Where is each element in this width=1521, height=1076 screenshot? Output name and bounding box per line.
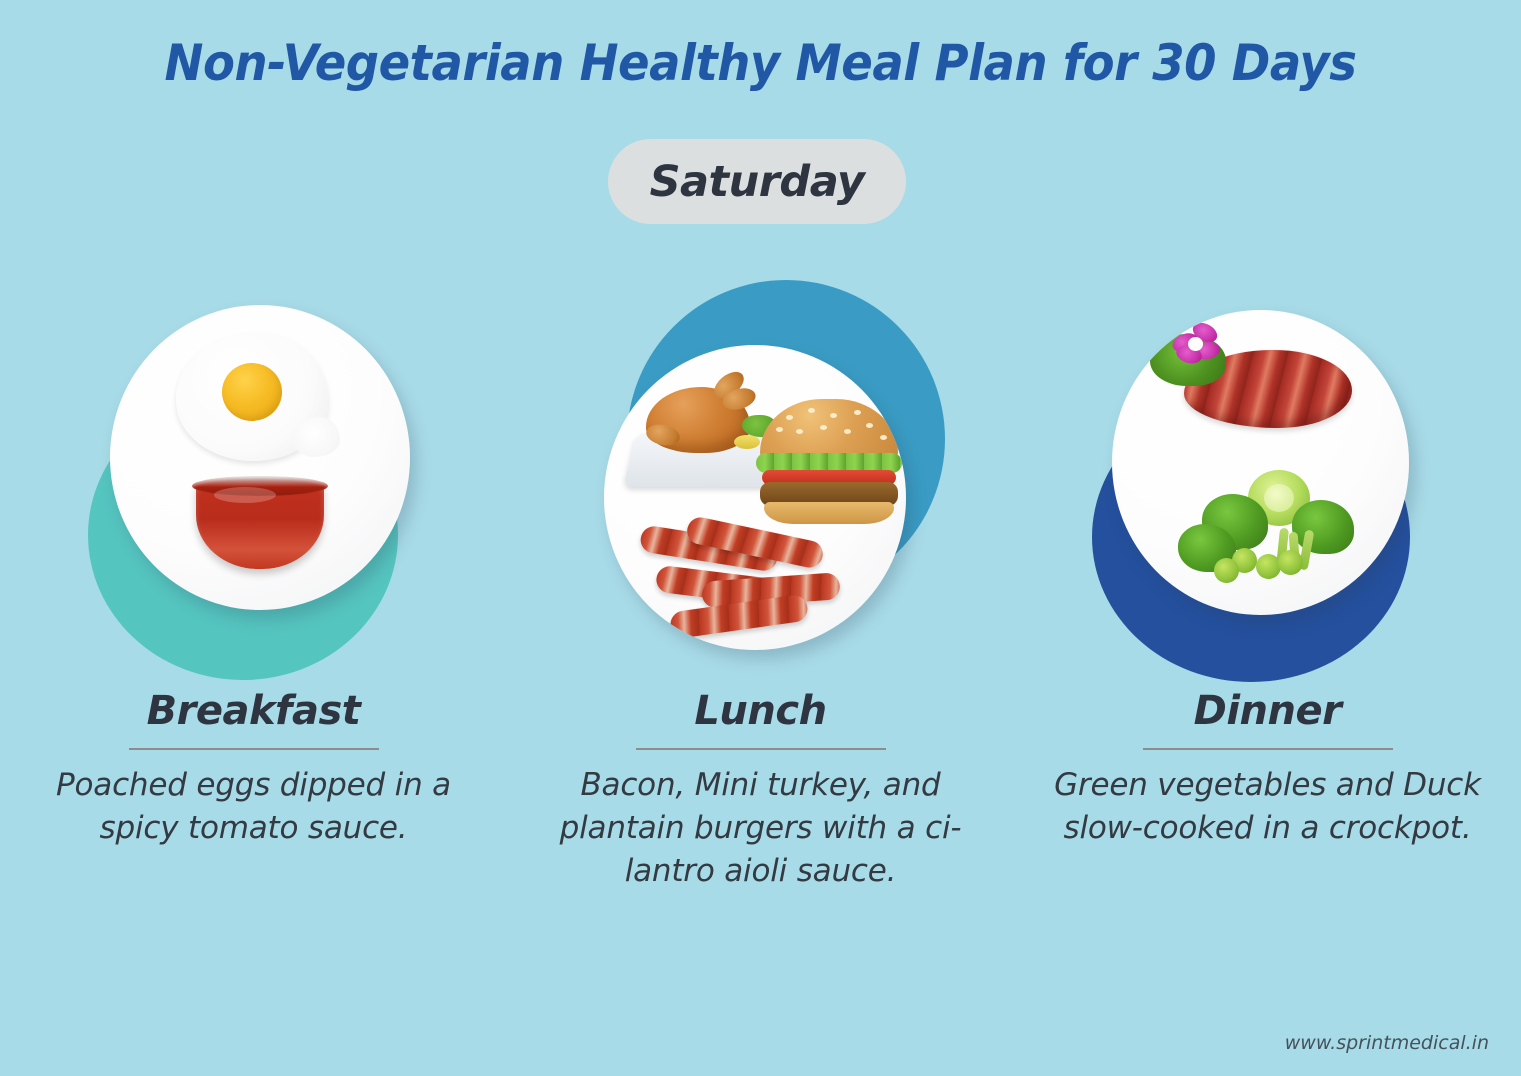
lunch-plate-stack bbox=[507, 280, 1014, 690]
orchid-flower-icon bbox=[1172, 324, 1222, 364]
broccoli-icon bbox=[1292, 500, 1354, 554]
breakfast-plate bbox=[110, 305, 410, 610]
bacon-strips bbox=[640, 529, 860, 639]
breakfast-caption: Breakfast Poached eggs dipped in a spicy… bbox=[0, 690, 507, 850]
meal-divider-lunch bbox=[636, 748, 886, 750]
fried-egg bbox=[176, 333, 328, 461]
meal-description-lunch: Bacon, Mini turkey, and plantain burgers… bbox=[546, 764, 976, 892]
brussels-sprout-icon bbox=[1278, 550, 1303, 575]
burger-top-bun-icon bbox=[760, 399, 898, 461]
brussels-sprout-icon bbox=[1256, 554, 1281, 579]
dinner-plate-stack bbox=[1014, 280, 1521, 690]
lunch-caption: Lunch Bacon, Mini turkey, and plantain b… bbox=[507, 690, 1014, 892]
bowl-body-icon bbox=[196, 483, 324, 569]
day-badge: Saturday bbox=[608, 139, 906, 224]
meal-title-breakfast: Breakfast bbox=[0, 690, 507, 732]
meal-column-breakfast: Breakfast Poached eggs dipped in a spicy… bbox=[0, 280, 507, 980]
day-badge-label: Saturday bbox=[650, 157, 865, 207]
breakfast-plate-stack bbox=[0, 280, 507, 690]
page-title: Non-Vegetarian Healthy Meal Plan for 30 … bbox=[53, 34, 1468, 92]
meal-description-breakfast: Poached eggs dipped in a spicy tomato sa… bbox=[39, 764, 469, 850]
egg-yolk-icon bbox=[222, 363, 282, 421]
burger bbox=[756, 399, 902, 521]
meal-description-dinner: Green vegetables and Duck slow-cooked in… bbox=[1053, 764, 1483, 850]
bowl-sheen-icon bbox=[214, 487, 276, 503]
meal-divider-dinner bbox=[1143, 748, 1393, 750]
dinner-caption: Dinner Green vegetables and Duck slow-co… bbox=[1014, 690, 1521, 850]
meal-column-dinner: Dinner Green vegetables and Duck slow-co… bbox=[1014, 280, 1521, 980]
meal-divider-breakfast bbox=[129, 748, 379, 750]
meal-title-lunch: Lunch bbox=[507, 690, 1014, 732]
green-vegetables bbox=[1174, 470, 1356, 582]
dinner-plate bbox=[1112, 310, 1409, 615]
site-watermark: www.sprintmedical.in bbox=[1285, 1032, 1489, 1054]
meal-column-lunch: Lunch Bacon, Mini turkey, and plantain b… bbox=[507, 280, 1014, 980]
sliced-duck bbox=[1184, 350, 1352, 428]
tomato-sauce-bowl bbox=[196, 483, 332, 579]
burger-bottom-bun-icon bbox=[764, 502, 894, 524]
meal-title-dinner: Dinner bbox=[1014, 690, 1521, 732]
brussels-sprout-icon bbox=[1214, 558, 1239, 583]
lunch-plate bbox=[604, 345, 906, 650]
meal-columns: Breakfast Poached eggs dipped in a spicy… bbox=[0, 280, 1521, 980]
